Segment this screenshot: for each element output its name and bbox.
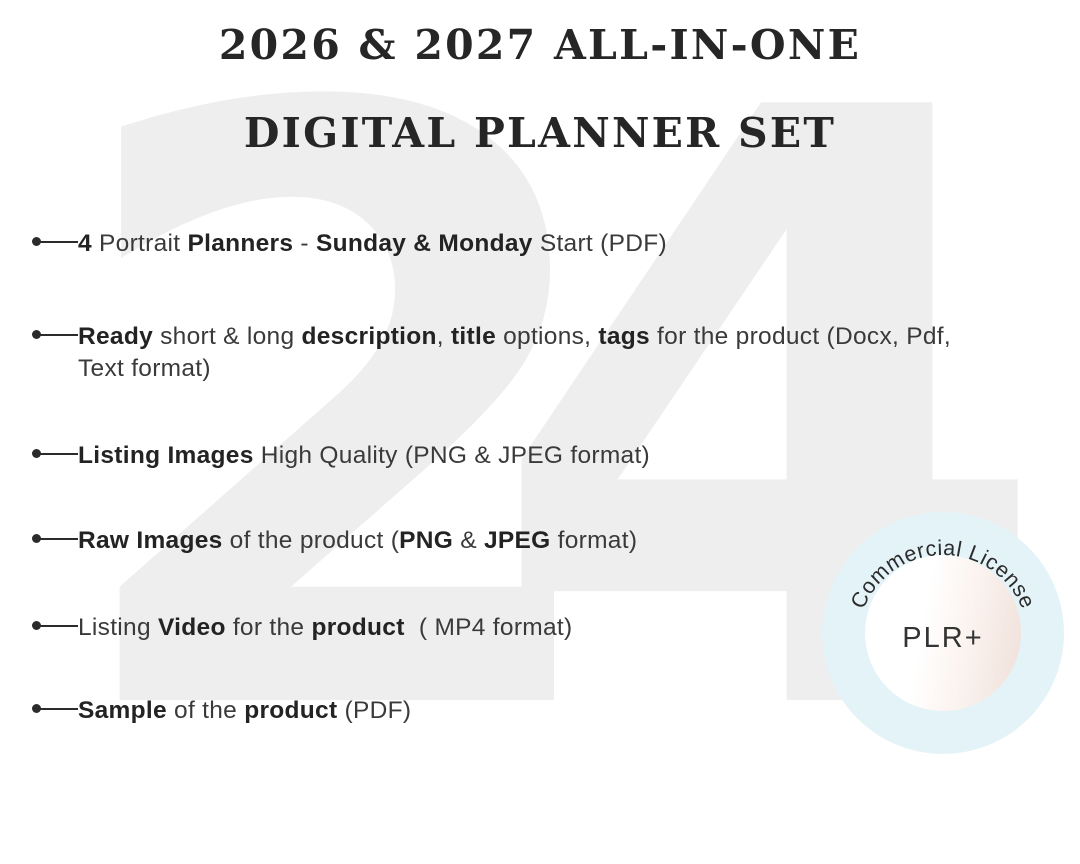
- bullet-dash-icon: [0, 525, 78, 551]
- list-item: Listing Images High Quality (PNG & JPEG …: [0, 440, 1000, 473]
- page-title: 2026 & 2027 ALL-IN-ONE DIGITAL PLANNER S…: [0, 0, 1080, 154]
- list-item: Ready short & long description, title op…: [0, 321, 1000, 386]
- feature-text: Listing Images High Quality (PNG & JPEG …: [78, 440, 1000, 473]
- license-badge: Commercial License PLR+: [822, 512, 1064, 754]
- badge-center-label: PLR+: [822, 622, 1064, 655]
- bullet-dash-icon: [0, 695, 78, 721]
- bullet-dash-icon: [0, 612, 78, 638]
- feature-text: Ready short & long description, title op…: [78, 321, 1000, 386]
- bullet-dash-icon: [0, 321, 78, 368]
- feature-text: 4 Portrait Planners - Sunday & Monday St…: [78, 228, 1000, 261]
- list-item: 4 Portrait Planners - Sunday & Monday St…: [0, 228, 1000, 261]
- heading-line-1: 2026 & 2027 ALL-IN-ONE: [0, 25, 1080, 66]
- bullet-dash-icon: [0, 228, 78, 254]
- heading-line-2: DIGITAL PLANNER SET: [0, 113, 1080, 154]
- bullet-dash-icon: [0, 440, 78, 466]
- badge-curved-label: Commercial License: [846, 536, 1040, 612]
